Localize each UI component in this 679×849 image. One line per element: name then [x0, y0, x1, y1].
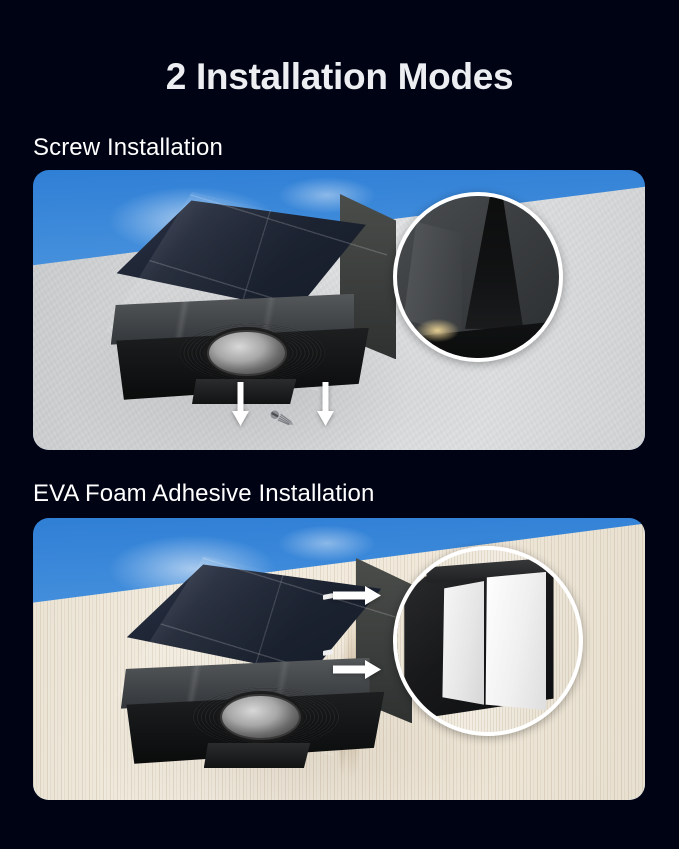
callout-circle-screw-detail — [393, 192, 563, 362]
right-arrow-icon-bottom — [333, 660, 381, 679]
photo-card-screw-installation — [33, 170, 645, 450]
section-label-eva-foam-adhesive-installation: EVA Foam Adhesive Installation — [33, 480, 374, 508]
page-title: 2 Installation Modes — [0, 55, 679, 99]
section-label-screw-installation: Screw Installation — [33, 134, 223, 162]
callout-screw-highlight — [416, 319, 458, 342]
infographic-page: 2 Installation Modes Screw Installation — [0, 0, 679, 849]
solar-wall-light-device — [105, 192, 395, 404]
eva-foam-pad-left — [441, 581, 485, 705]
eva-foam-pad-right — [484, 572, 546, 710]
motion-sensor-lens — [222, 696, 299, 738]
scene-wood-wall — [33, 518, 645, 800]
down-arrow-icon-left — [232, 382, 249, 426]
down-arrow-icon-right — [317, 382, 334, 426]
screw-icon — [266, 407, 296, 429]
right-arrow-icon-top — [333, 586, 381, 605]
callout-circle-eva-foam-detail — [393, 546, 583, 736]
photo-card-eva-foam-installation — [33, 518, 645, 800]
motion-sensor-lens — [209, 332, 284, 374]
mounting-bracket-tab — [204, 743, 311, 768]
scene-grey-wall — [33, 170, 645, 450]
